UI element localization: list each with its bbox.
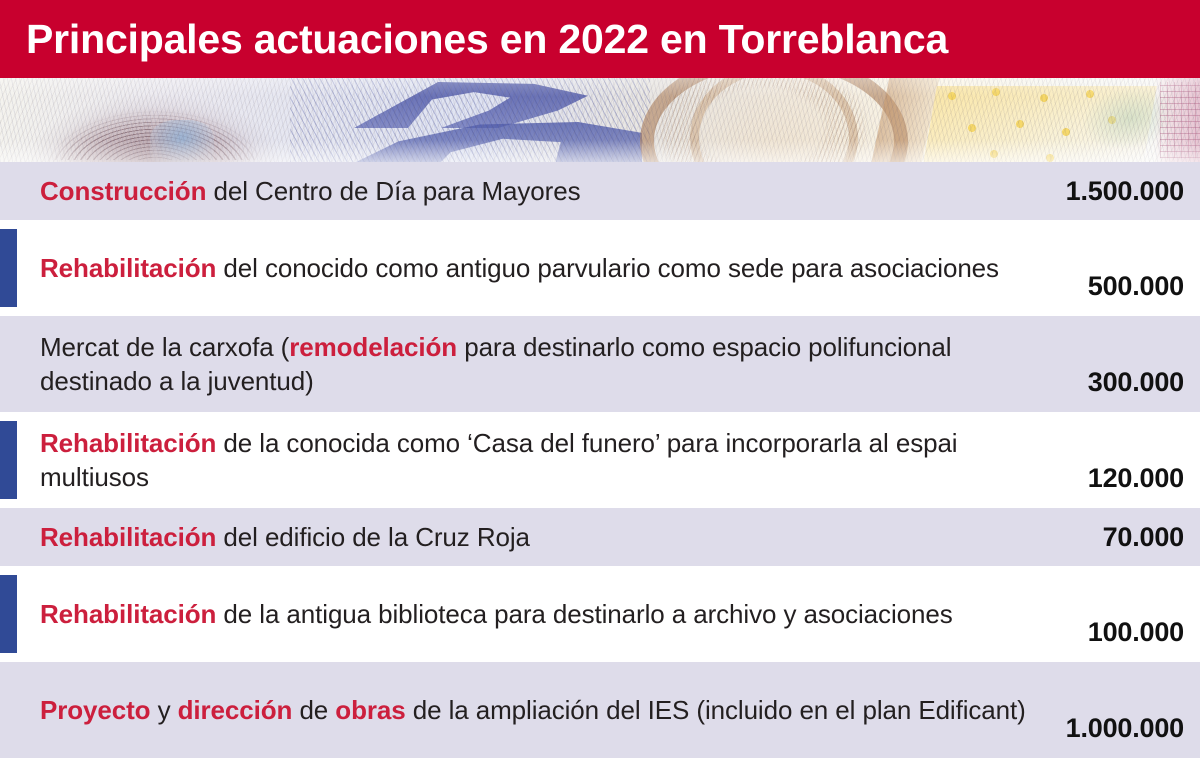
keyword-highlight: Construcción <box>40 176 206 206</box>
header-band: Principales actuaciones en 2022 en Torre… <box>0 0 1200 78</box>
keyword-highlight: Rehabilitación <box>40 599 216 629</box>
description-text: del Centro de Día para Mayores <box>206 176 580 206</box>
keyword-highlight: Rehabilitación <box>40 522 216 552</box>
row-description: Mercat de la carxofa (remodelación para … <box>0 316 1078 412</box>
table-row: Construcción del Centro de Día para Mayo… <box>0 162 1200 220</box>
banknote-vignette <box>0 78 1200 162</box>
row-amount: 70.000 <box>1093 508 1200 566</box>
table-row: Proyecto y dirección de obras de la ampl… <box>0 662 1200 758</box>
banknote-photo-strip <box>0 78 1200 162</box>
description-text: de la antigua biblioteca para destinarlo… <box>216 599 952 629</box>
row-description: Rehabilitación de la conocida como ‘Casa… <box>0 412 1078 508</box>
table-row: Rehabilitación del edificio de la Cruz R… <box>0 508 1200 566</box>
row-amount: 500.000 <box>1078 220 1200 316</box>
keyword-highlight: obras <box>335 695 405 725</box>
row-description: Construcción del Centro de Día para Mayo… <box>0 162 1056 220</box>
description-text: del conocido como antiguo parvulario com… <box>216 253 999 283</box>
keyword-highlight: Proyecto <box>40 695 150 725</box>
table-row: Mercat de la carxofa (remodelación para … <box>0 316 1200 412</box>
keyword-highlight: Rehabilitación <box>40 428 216 458</box>
keyword-highlight: remodelación <box>289 332 457 362</box>
row-accent-bar <box>0 421 17 499</box>
keyword-highlight: dirección <box>178 695 293 725</box>
table-row: Rehabilitación de la antigua biblioteca … <box>0 566 1200 662</box>
row-amount: 100.000 <box>1078 566 1200 662</box>
row-amount: 1.500.000 <box>1056 162 1200 220</box>
row-description: Proyecto y dirección de obras de la ampl… <box>0 662 1056 758</box>
description-text: de <box>292 695 335 725</box>
infographic-root: Principales actuaciones en 2022 en Torre… <box>0 0 1200 783</box>
actuaciones-table: Construcción del Centro de Día para Mayo… <box>0 162 1200 758</box>
row-description: Rehabilitación del edificio de la Cruz R… <box>0 508 1093 566</box>
table-row: Rehabilitación del conocido como antiguo… <box>0 220 1200 316</box>
table-row: Rehabilitación de la conocida como ‘Casa… <box>0 412 1200 508</box>
row-amount: 120.000 <box>1078 412 1200 508</box>
description-text: Mercat de la carxofa ( <box>40 332 289 362</box>
row-description: Rehabilitación del conocido como antiguo… <box>0 220 1078 316</box>
row-description: Rehabilitación de la antigua biblioteca … <box>0 566 1078 662</box>
page-title: Principales actuaciones en 2022 en Torre… <box>26 19 948 60</box>
row-amount: 1.000.000 <box>1056 662 1200 758</box>
description-text: de la ampliación del IES (incluido en el… <box>406 695 1026 725</box>
row-amount: 300.000 <box>1078 316 1200 412</box>
description-text: del edificio de la Cruz Roja <box>216 522 530 552</box>
description-text: y <box>150 695 177 725</box>
keyword-highlight: Rehabilitación <box>40 253 216 283</box>
row-accent-bar <box>0 575 17 653</box>
row-accent-bar <box>0 229 17 307</box>
